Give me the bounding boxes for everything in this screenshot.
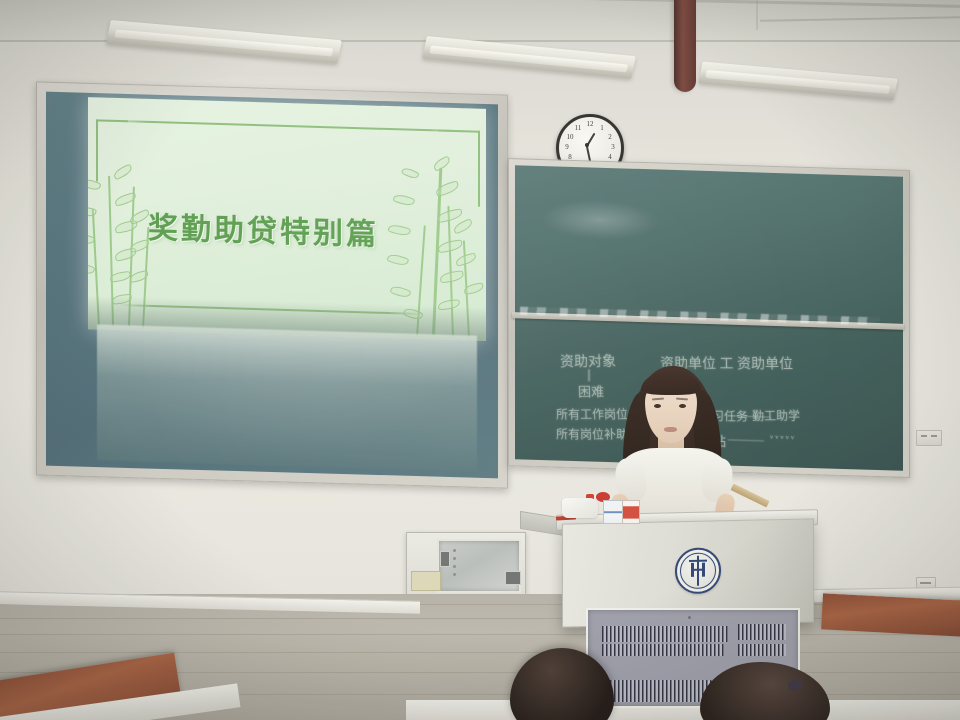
bamboo-leaf (437, 239, 464, 253)
clock-num-12: 12 (584, 120, 596, 128)
wall-outlet[interactable] (916, 430, 942, 446)
slide-top-rule (102, 120, 474, 133)
cabinet-switch[interactable] (440, 551, 450, 567)
bamboo-leaf (452, 218, 474, 234)
cabinet-indicator (453, 557, 456, 560)
cabinet-label (411, 571, 441, 591)
chalk-dust (540, 198, 660, 242)
clock-num-10: 10 (564, 133, 576, 141)
clock-num-11: 11 (572, 124, 584, 132)
university-crest-icon (675, 547, 721, 594)
vent-slats (738, 644, 786, 656)
bamboo-leaf (401, 166, 420, 181)
bamboo-leaf (387, 252, 410, 267)
slide-title: 奖勤助贷特别篇 (148, 203, 379, 254)
tissue-pack[interactable] (562, 498, 598, 518)
chalk-line-8: 勤工助学 (752, 407, 801, 424)
red-box[interactable] (622, 500, 640, 524)
chalk-arrow-down (588, 369, 590, 381)
blue-box[interactable] (603, 500, 623, 524)
bamboo-leaf (393, 193, 416, 208)
vent-slats (602, 644, 724, 656)
presenter-eye-left (654, 404, 661, 408)
cabinet-indicator (453, 549, 456, 552)
projection-spill-lower (97, 324, 477, 471)
outlet-slot (920, 582, 931, 584)
outlet-slot (921, 435, 927, 437)
chalk-line-5: 所有工作岗位 (556, 405, 629, 422)
bamboo-leaf (390, 284, 412, 299)
presenter-eye-right (679, 404, 686, 408)
slide-corner-left (96, 119, 128, 182)
wall-pipe (674, 0, 696, 92)
clock-num-3: 3 (607, 143, 619, 151)
vent-slats (602, 626, 728, 642)
clock-center-pin (585, 143, 589, 147)
slide-corner-right (438, 129, 480, 206)
cabinet-vent (505, 571, 521, 585)
projector-slide: 奖勤助贷特别篇 (88, 97, 486, 341)
chalk-line-6: 所有岗位补助 (556, 425, 628, 442)
outlet-slot (931, 435, 937, 437)
classroom-scene: · 12 1 2 3 4 5 6 7 8 9 10 11 (0, 0, 960, 720)
wall-seam-2 (756, 0, 758, 30)
cabinet-indicator (453, 565, 456, 568)
presenter-mouth (664, 427, 677, 432)
chalk-squiggle: ᵛᵛᵛᵛᵛ (770, 433, 796, 446)
crest-mark (697, 556, 699, 586)
clock-num-4: 4 (604, 153, 616, 161)
clock-num-2: 2 (604, 133, 616, 141)
grille-screw (688, 616, 691, 619)
chalk-line-3: 困难 (578, 381, 605, 400)
vent-slats (738, 624, 786, 640)
clock-num-1: 1 (596, 124, 608, 132)
bamboo-leaf (388, 223, 412, 238)
clock-num-9: 9 (561, 143, 573, 151)
bamboo-leaf (439, 270, 464, 283)
cabinet-indicator (453, 573, 456, 576)
